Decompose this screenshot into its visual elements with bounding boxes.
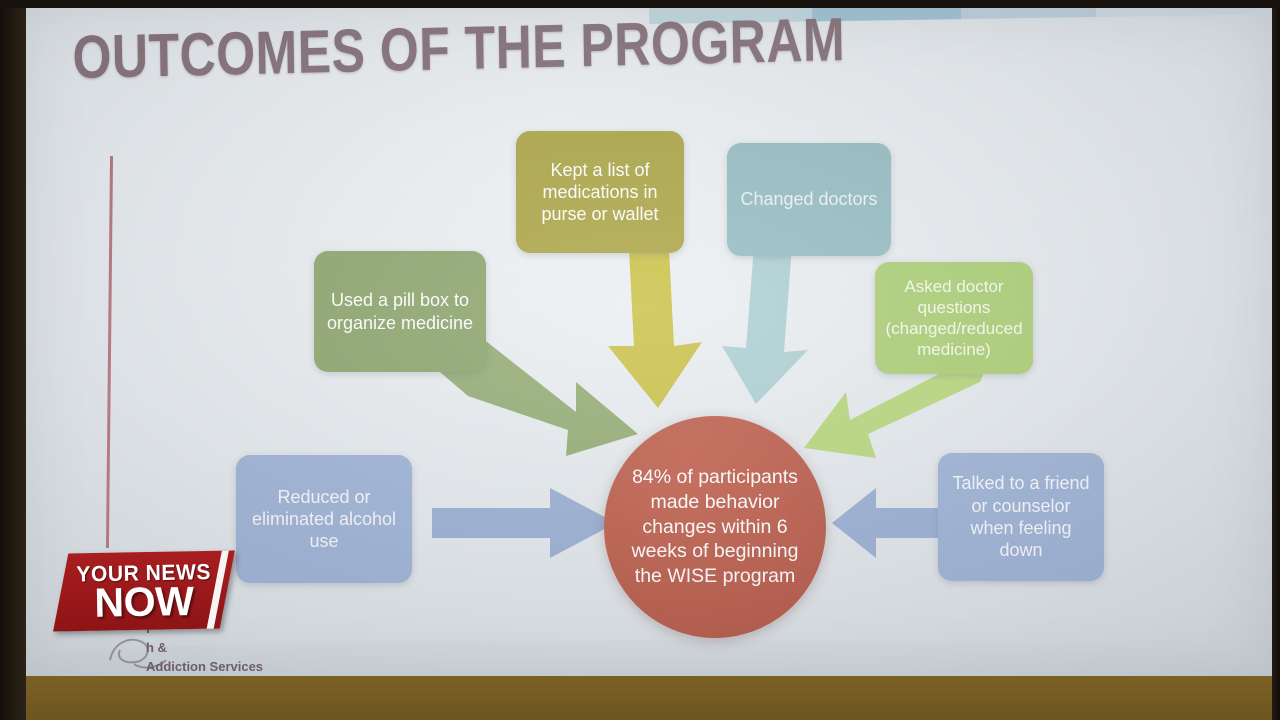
slide-title: OUTCOMES OF THE PROGRAM [72,8,846,93]
node-used-pill-box-label: Used a pill box to organize medicine [326,289,474,334]
room-background: OUTCOMES OF THE PROGRAM [0,0,1280,720]
arrow-reduced-alcohol [432,486,616,560]
arrow-changed-doctors [714,246,810,404]
node-changed-doctors[interactable]: Changed doctors [727,143,891,256]
org-footer-line2: h & [146,639,263,658]
broadcast-logo-line2: NOW [94,583,194,622]
screen-frame-top [0,0,1280,8]
node-talked-to-friend-label: Talked to a friend or counselor when fee… [950,472,1092,561]
node-reduced-alcohol-label: Reduced or eliminated alcohol use [248,486,400,553]
node-kept-list-medications-label: Kept a list of medications in purse or w… [528,159,672,226]
node-changed-doctors-label: Changed doctors [740,188,877,210]
node-kept-list-medications[interactable]: Kept a list of medications in purse or w… [516,131,684,253]
accent-rule [106,156,113,548]
node-used-pill-box[interactable]: Used a pill box to organize medicine [314,251,486,372]
screen-frame-left [0,0,26,720]
broadcast-logo-bug: YOUR NEWS NOW [53,551,235,632]
node-talked-to-friend[interactable]: Talked to a friend or counselor when fee… [938,453,1104,581]
center-statistic-circle[interactable]: 84% of participants made behavior change… [604,416,826,638]
org-footer-line3: Addiction Services [146,658,263,676]
center-statistic-text: 84% of participants made behavior change… [622,465,808,590]
node-asked-doctor-questions[interactable]: Asked doctor questions (changed/reduced … [875,262,1033,374]
node-reduced-alcohol[interactable]: Reduced or eliminated alcohol use [236,455,412,583]
screen-frame-right [1272,0,1280,720]
node-asked-doctor-questions-label: Asked doctor questions (changed/reduced … [885,276,1022,360]
